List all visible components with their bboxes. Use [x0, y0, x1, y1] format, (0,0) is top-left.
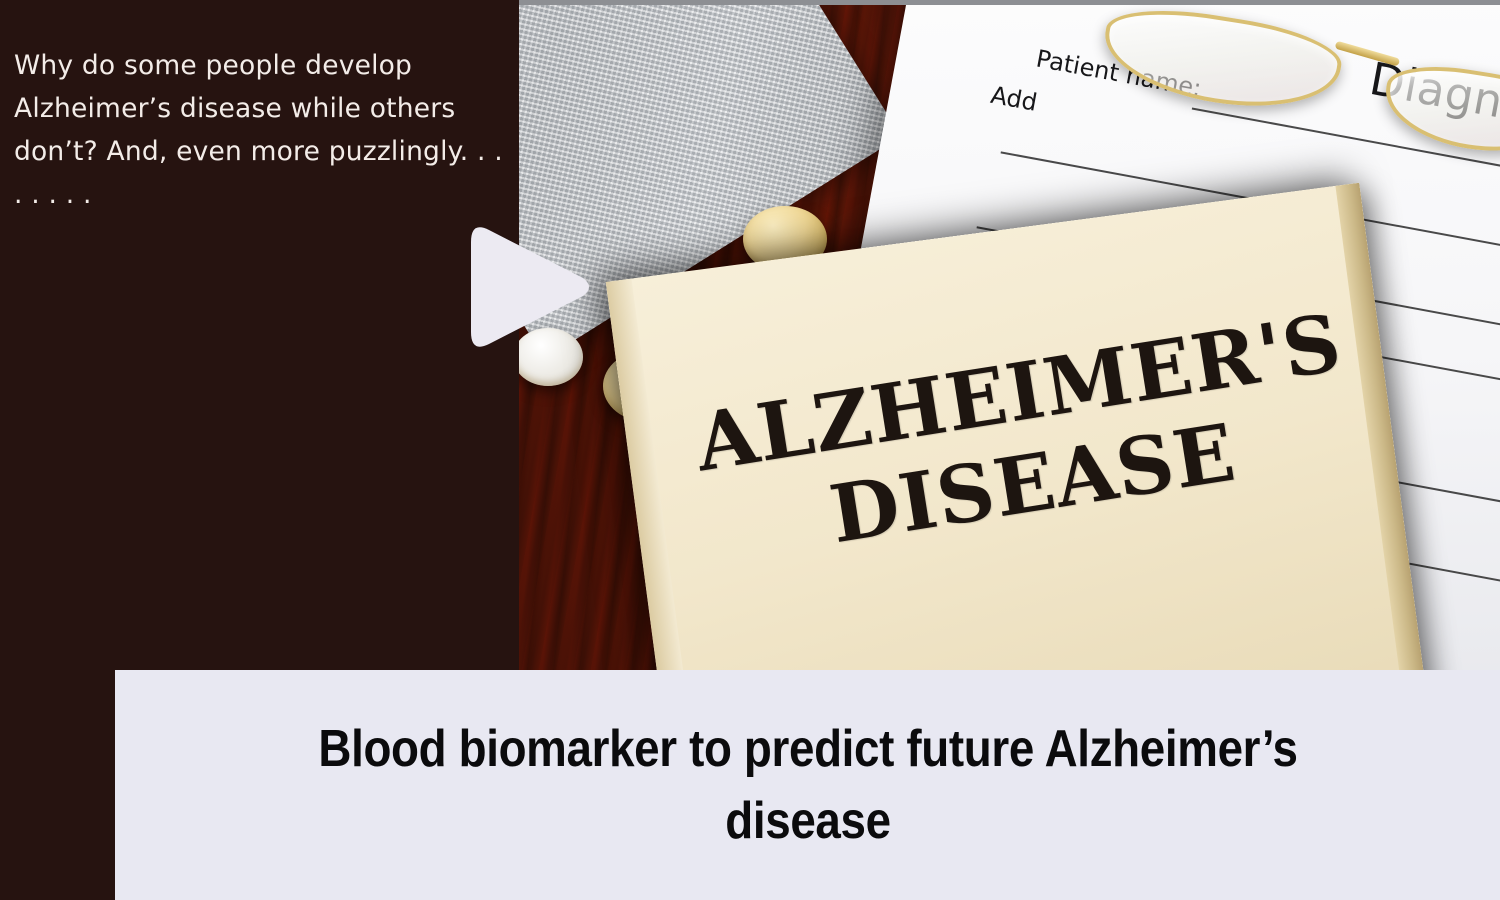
eyeglasses-lens-left: [1097, 0, 1346, 121]
form-field-address: Add: [989, 81, 1040, 117]
eyeglasses-bridge: [1335, 41, 1401, 67]
caption-bar: Blood biomarker to predict future Alzhei…: [115, 670, 1500, 900]
play-triangle-icon: [465, 212, 593, 362]
book-title: ALZHEIMER'S DISEASE: [666, 293, 1386, 584]
intro-text: Why do some people develop Alzheimer’s d…: [14, 44, 519, 216]
hero-image: Diagnostic Patient name: Add Weight: Dia…: [519, 0, 1500, 670]
eyeglasses-lens-right: [1379, 57, 1500, 162]
play-button[interactable]: [465, 212, 593, 362]
photo-top-strip: [519, 0, 1500, 5]
headline: Blood biomarker to predict future Alzhei…: [249, 713, 1367, 857]
page-canvas: Diagnostic Patient name: Add Weight: Dia…: [0, 0, 1500, 900]
